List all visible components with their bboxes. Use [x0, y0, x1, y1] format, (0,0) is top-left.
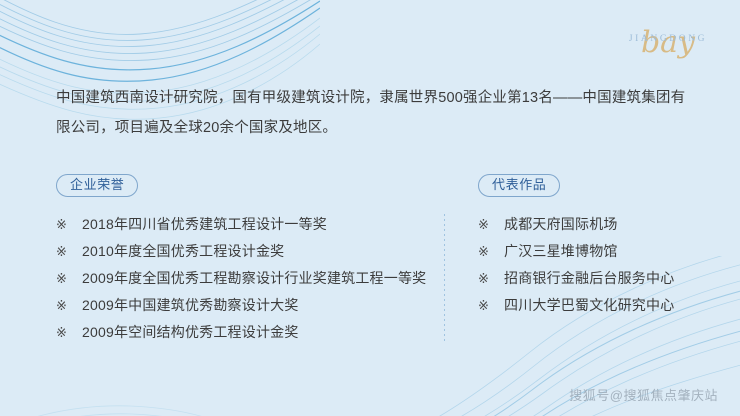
works-column: 代表作品 ※ 成都天府国际机场 ※ 广汉三星堆博物馆 ※ 招商银行金融后台服务中… [478, 174, 728, 322]
honors-column: 企业荣誉 ※ 2018年四川省优秀建筑工程设计一等奖 ※ 2010年度全国优秀工… [56, 174, 436, 349]
list-item-label: 招商银行金融后台服务中心 [504, 268, 674, 288]
list-item: ※ 广汉三星堆博物馆 [478, 241, 728, 268]
intro-paragraph: 中国建筑西南设计研究院，国有甲级建筑设计院，隶属世界500强企业第13名——中国… [56, 83, 686, 143]
list-item: ※ 2018年四川省优秀建筑工程设计一等奖 [56, 214, 436, 241]
list-item: ※ 2009年中国建筑优秀勘察设计大奖 [56, 295, 436, 322]
brand-wordmark: JIANGDONG [612, 34, 724, 44]
bullet-mark-icon: ※ [478, 244, 504, 260]
list-item-label: 广汉三星堆博物馆 [504, 241, 618, 261]
list-item-label: 2010年度全国优秀工程设计金奖 [82, 241, 284, 261]
list-item: ※ 2009年空间结构优秀工程设计金奖 [56, 322, 436, 349]
bullet-mark-icon: ※ [56, 271, 82, 287]
list-item: ※ 成都天府国际机场 [478, 214, 728, 241]
works-list: ※ 成都天府国际机场 ※ 广汉三星堆博物馆 ※ 招商银行金融后台服务中心 ※ 四… [478, 214, 728, 322]
list-item: ※ 招商银行金融后台服务中心 [478, 268, 728, 295]
honors-list: ※ 2018年四川省优秀建筑工程设计一等奖 ※ 2010年度全国优秀工程设计金奖… [56, 214, 436, 349]
list-item-label: 2009年中国建筑优秀勘察设计大奖 [82, 295, 299, 315]
bullet-mark-icon: ※ [478, 271, 504, 287]
brand-logo: bay JIANGDONG [612, 14, 724, 72]
list-item-label: 2009年度全国优秀工程勘察设计行业奖建筑工程一等奖 [82, 268, 426, 288]
bullet-mark-icon: ※ [56, 217, 82, 233]
works-badge: 代表作品 [478, 174, 560, 197]
list-item-label: 2009年空间结构优秀工程设计金奖 [82, 322, 299, 342]
watermark-text: 搜狐号@搜狐焦点肇庆站 [569, 385, 718, 404]
list-item: ※ 2009年度全国优秀工程勘察设计行业奖建筑工程一等奖 [56, 268, 436, 295]
list-item-label: 2018年四川省优秀建筑工程设计一等奖 [82, 214, 327, 234]
list-item: ※ 2010年度全国优秀工程设计金奖 [56, 241, 436, 268]
list-item: ※ 四川大学巴蜀文化研究中心 [478, 295, 728, 322]
list-item-label: 成都天府国际机场 [504, 214, 618, 234]
bullet-mark-icon: ※ [56, 325, 82, 341]
bullet-mark-icon: ※ [478, 217, 504, 233]
bullet-mark-icon: ※ [56, 244, 82, 260]
list-item-label: 四川大学巴蜀文化研究中心 [504, 295, 674, 315]
slide-canvas: bay JIANGDONG 中国建筑西南设计研究院，国有甲级建筑设计院，隶属世界… [0, 0, 740, 416]
honors-badge: 企业荣誉 [56, 174, 138, 197]
bullet-mark-icon: ※ [478, 298, 504, 314]
bullet-mark-icon: ※ [56, 298, 82, 314]
column-divider [444, 214, 445, 342]
